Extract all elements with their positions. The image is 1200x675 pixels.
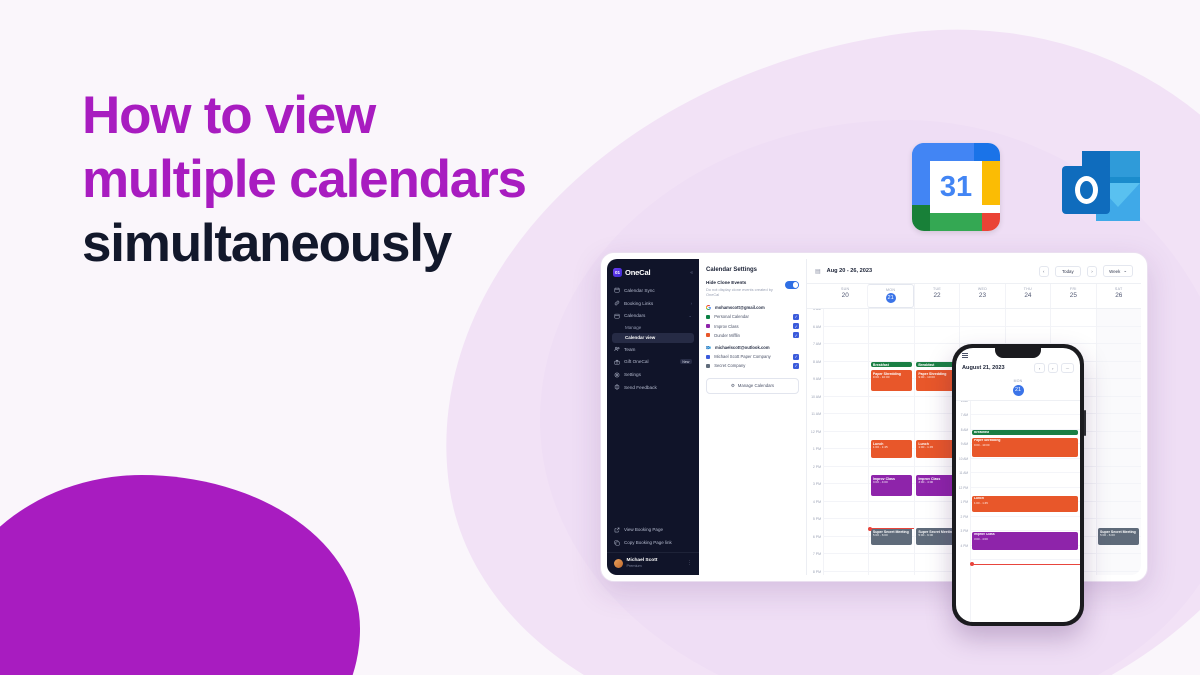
day-number: 23 <box>960 292 1004 299</box>
sidebar-label: Booking Links <box>624 301 653 306</box>
collapse-sidebar-icon[interactable]: « <box>690 270 693 276</box>
team-icon <box>614 346 620 352</box>
phone-hour-label: 3 PM <box>956 529 970 544</box>
external-link-icon <box>614 527 620 533</box>
sidebar-subitem-manage[interactable]: Manage <box>607 322 699 332</box>
user-menu-icon[interactable]: ⋮ <box>687 560 692 566</box>
calendar-event[interactable]: Paper Shredding9:00 - 10:00 <box>871 370 912 391</box>
phone-prev-button[interactable]: ‹ <box>1034 363 1044 373</box>
hour-label: 7 AM <box>807 342 823 360</box>
hour-slot[interactable] <box>1097 379 1141 397</box>
hour-slot[interactable] <box>1097 309 1141 327</box>
calendar-row[interactable]: Personal Calendar ✓ <box>706 314 799 320</box>
onecal-logo-mark: 01 <box>613 268 622 277</box>
gift-icon <box>614 359 620 365</box>
hour-label: 6 PM <box>807 535 823 553</box>
outlook-icon <box>1048 143 1140 231</box>
feedback-icon <box>614 384 620 390</box>
copy-icon <box>614 540 620 546</box>
hour-slot[interactable] <box>960 327 1004 345</box>
hour-slot[interactable] <box>869 502 913 520</box>
phone-calendar-grid: 6 AM7 AM8 AM9 AM10 AM11 AM12 PM1 PM2 PM3… <box>956 401 1080 622</box>
hide-clone-events-row: Hide Clone Events Do not display clone e… <box>706 280 799 297</box>
event-time: 9:00 - 10:00 <box>918 376 955 380</box>
phone-more-button[interactable]: ⋯ <box>1061 363 1074 373</box>
calendar-event[interactable]: Improv Class3:00 - 4:00 <box>871 475 912 496</box>
hour-slot[interactable] <box>1097 327 1141 345</box>
event-time: 3:00 - 4:00 <box>873 481 910 485</box>
calendar-row[interactable]: Improv Class ✓ <box>706 323 799 329</box>
hour-label: 5 PM <box>807 517 823 535</box>
sidebar-item-copy-booking-link[interactable]: Copy Booking Page link <box>607 536 699 549</box>
hour-slot[interactable] <box>1097 344 1141 362</box>
avatar <box>614 559 623 568</box>
hour-slot[interactable] <box>824 397 868 415</box>
hour-label: 7 PM <box>807 552 823 570</box>
hour-label: 3 PM <box>807 482 823 500</box>
hide-clone-events-toggle[interactable] <box>785 281 799 289</box>
account-group-outlook: michaelscott@outlook.com Michael Scott P… <box>706 345 799 369</box>
hour-slot[interactable] <box>1097 467 1141 485</box>
hour-slot[interactable] <box>869 344 913 362</box>
phone-hour-slot[interactable] <box>971 459 1080 474</box>
calendar-icon <box>614 313 620 319</box>
sidebar-item-send-feedback[interactable]: Send Feedback <box>607 381 699 394</box>
calendar-color-swatch <box>706 364 710 368</box>
hour-slot[interactable] <box>1097 502 1141 520</box>
day-column-mon[interactable]: BreakfastPaper Shredding9:00 - 10:00Lunc… <box>868 309 913 575</box>
user-plan: Premium <box>627 564 658 568</box>
hour-label: 8 AM <box>807 360 823 378</box>
day-column-sun[interactable] <box>823 309 868 575</box>
calendar-label: Dunder Mifflin <box>714 333 789 338</box>
hour-slot[interactable] <box>869 572 913 576</box>
google-calendar-icon: 31 <box>912 143 1000 231</box>
view-selector[interactable]: Week ⌄ <box>1103 265 1133 277</box>
hour-slot[interactable] <box>824 484 868 502</box>
event-time: 1:00 - 1:45 <box>918 446 955 450</box>
calendar-label: Improv Class <box>714 324 789 329</box>
calendar-view-icon[interactable]: ▤ <box>815 268 821 275</box>
phone-hour-label: 8 AM <box>956 428 970 443</box>
headline-line-2: multiple calendars <box>82 148 702 212</box>
day-header-mon[interactable]: MON21 <box>867 284 913 308</box>
phone-hour-label: 4 PM <box>956 544 970 559</box>
current-time-indicator <box>869 528 913 529</box>
hour-slot[interactable] <box>1097 362 1141 380</box>
hour-slot[interactable] <box>1097 484 1141 502</box>
hide-clone-events-title: Hide Clone Events <box>706 280 780 285</box>
sidebar-item-team[interactable]: Team <box>607 343 699 356</box>
sidebar-label: Settings <box>624 372 641 377</box>
hour-label: 6 AM <box>807 325 823 343</box>
day-of-week: THU <box>1006 287 1050 291</box>
sidebar: 01 OneCal « Calendar Sync Booking Links … <box>607 259 699 575</box>
google-icon <box>706 305 711 310</box>
sidebar-label: Calendar Sync <box>624 288 655 293</box>
day-headers: SUN20MON21TUE22WED23THU24FRI25SAT26 <box>807 284 1141 309</box>
day-number: 26 <box>1097 292 1141 299</box>
phone-hour-label: 2 PM <box>956 515 970 530</box>
account-header: michaelscott@outlook.com <box>706 345 799 350</box>
phone-hour-label: 1 PM <box>956 500 970 515</box>
hour-slot[interactable] <box>824 344 868 362</box>
day-of-week: SUN <box>823 287 867 291</box>
hour-slot[interactable] <box>824 572 868 576</box>
day-of-week: SAT <box>1097 287 1141 291</box>
view-selector-label: Week <box>1109 269 1120 274</box>
sidebar-user-profile[interactable]: Michael Scott Premium ⋮ <box>607 552 699 571</box>
day-header-thu[interactable]: THU24 <box>1005 284 1050 308</box>
hour-label: 2 PM <box>807 465 823 483</box>
phone-date-label: August 21, 2023 <box>962 365 1005 371</box>
new-badge: New <box>680 359 692 364</box>
sidebar-item-settings[interactable]: Settings <box>607 368 699 381</box>
day-column-sat[interactable]: Super Secret Meeting5:00 - 6:00 <box>1096 309 1141 575</box>
hour-slot[interactable] <box>824 449 868 467</box>
hour-slot[interactable] <box>1097 414 1141 432</box>
phone-calendar-event[interactable]: Improv Class3:00 - 4:00 <box>972 532 1078 550</box>
google-calendar-day-number: 31 <box>930 161 982 213</box>
sidebar-item-calendars[interactable]: Calendars ⌄ <box>607 310 699 323</box>
calendar-row[interactable]: Dunder Mifflin ✓ <box>706 332 799 338</box>
gear-icon <box>614 372 620 378</box>
calendar-checkbox[interactable]: ✓ <box>793 332 799 338</box>
day-number: 25 <box>1051 292 1095 299</box>
account-group-google: mohamscott@gmail.com Personal Calendar ✓… <box>706 305 799 338</box>
day-number: 24 <box>1006 292 1050 299</box>
event-time: 5:00 - 6:00 <box>1100 534 1137 538</box>
calendar-row[interactable]: Michael Scott Paper Company ✓ <box>706 354 799 360</box>
phone-calendar-event[interactable]: Breakfast <box>972 430 1078 435</box>
event-time: 5:00 - 6:00 <box>873 534 910 538</box>
day-number: 20 <box>823 292 867 299</box>
event-time: 3:00 - 4:00 <box>918 481 955 485</box>
phone-hour-slot[interactable] <box>971 517 1080 532</box>
calendar-event[interactable]: Breakfast <box>871 362 912 367</box>
hour-label: 10 AM <box>807 395 823 413</box>
calendar-event[interactable]: Super Secret Meeting5:00 - 6:00 <box>1098 528 1139 545</box>
phone-calendar-event[interactable]: Paper Shredding9:00 - 10:00 <box>972 438 1078 457</box>
today-button[interactable]: Today <box>1055 266 1081 277</box>
hour-label: 4 PM <box>807 500 823 518</box>
hour-slot[interactable] <box>824 467 868 485</box>
calendar-color-swatch <box>706 355 710 359</box>
calendar-checkbox[interactable]: ✓ <box>793 363 799 369</box>
chevron-right-icon: › <box>691 301 692 306</box>
sidebar-bottom-actions: View Booking Page Copy Booking Page link <box>607 523 699 549</box>
calendar-color-swatch <box>706 324 710 328</box>
hour-slot[interactable] <box>1051 309 1095 327</box>
hour-slot[interactable] <box>824 414 868 432</box>
sidebar-label: Send Feedback <box>624 385 657 390</box>
hour-label: 1 PM <box>807 447 823 465</box>
hour-slot[interactable] <box>824 309 868 327</box>
hour-slot[interactable] <box>869 554 913 572</box>
hour-slot[interactable] <box>1051 327 1095 345</box>
settings-title: Calendar Settings <box>706 267 799 273</box>
event-time: 5:00 - 6:00 <box>918 534 955 538</box>
hour-slot[interactable] <box>869 414 913 432</box>
chevron-down-icon: ⌄ <box>1123 268 1127 274</box>
phone-hour-slot[interactable] <box>971 473 1080 488</box>
hour-slot[interactable] <box>869 309 913 327</box>
phone-day-number: 21 <box>1013 385 1024 396</box>
phone-day-of-week: MON <box>956 379 1080 383</box>
phone-side-button <box>1084 410 1086 436</box>
calendar-color-swatch <box>706 333 710 337</box>
phone-calendar-event[interactable]: Lunch1:00 - 1:45 <box>972 496 1078 512</box>
hour-slot[interactable] <box>824 502 868 520</box>
link-icon <box>614 300 620 306</box>
hour-slot[interactable] <box>1097 397 1141 415</box>
calendar-label: Personal Calendar <box>714 314 789 319</box>
hour-slot[interactable] <box>1006 327 1050 345</box>
hour-slot[interactable] <box>1097 554 1141 572</box>
calendar-event[interactable]: Lunch1:00 - 1:45 <box>871 440 912 458</box>
hour-slot[interactable] <box>824 379 868 397</box>
hour-slot[interactable] <box>824 519 868 537</box>
phone-hour-label: 10 AM <box>956 457 970 472</box>
day-number: 22 <box>915 292 959 299</box>
phone-hour-slot[interactable] <box>971 401 1080 416</box>
hide-clone-events-description: Do not display clone events created by O… <box>706 287 780 298</box>
account-header: mohamscott@gmail.com <box>706 305 799 310</box>
hour-label: 11 AM <box>807 412 823 430</box>
hour-slot[interactable] <box>869 397 913 415</box>
hour-slot[interactable] <box>824 362 868 380</box>
hour-slot[interactable] <box>1097 449 1141 467</box>
phone-hour-label: 12 PM <box>956 486 970 501</box>
manage-calendars-button[interactable]: ⚙ Manage Calendars <box>706 378 799 394</box>
purple-blob <box>0 475 360 675</box>
calendar-toolbar: ▤ Aug 20 - 26, 2023 ‹ Today › Week ⌄ <box>807 259 1141 284</box>
event-time: 1:00 - 1:45 <box>873 446 910 450</box>
calendar-color-swatch <box>706 315 710 319</box>
phone-hour-label: 11 AM <box>956 471 970 486</box>
phone-calendar-header: August 21, 2023 ‹ › ⋯ <box>956 360 1080 377</box>
page-title: How to view multiple calendars simultane… <box>82 84 702 276</box>
account-email: mohamscott@gmail.com <box>715 305 765 310</box>
event-time: 9:00 - 10:00 <box>974 443 1076 447</box>
phone-hour-label: 9 AM <box>956 442 970 457</box>
day-of-week: TUE <box>915 287 959 291</box>
phone-hour-label: 7 AM <box>956 413 970 428</box>
gear-small-icon: ⚙ <box>731 383 735 389</box>
phone-current-time-indicator <box>971 564 1080 565</box>
sidebar-label: Team <box>624 347 635 352</box>
phone-next-button[interactable]: › <box>1048 363 1058 373</box>
app-name: OneCal <box>625 268 650 277</box>
day-of-week: WED <box>960 287 1004 291</box>
calendar-label: Michael Scott Paper Company <box>714 354 789 359</box>
day-header-sat[interactable]: SAT26 <box>1096 284 1141 308</box>
hour-slot[interactable] <box>824 327 868 345</box>
sidebar-label: Calendars <box>624 313 645 318</box>
hour-slot[interactable] <box>1006 309 1050 327</box>
phone-hour-slot[interactable] <box>971 415 1080 430</box>
event-title: Breakfast <box>873 363 910 367</box>
hour-slot[interactable] <box>960 309 1004 327</box>
event-time: 1:00 - 1:45 <box>974 501 1076 505</box>
calendar-checkbox[interactable]: ✓ <box>793 354 799 360</box>
event-title: Breakfast <box>918 363 955 367</box>
hour-slot[interactable] <box>1097 572 1141 576</box>
day-header-tue[interactable]: TUE22 <box>914 284 959 308</box>
date-range-label: Aug 20 - 26, 2023 <box>827 268 872 274</box>
event-time: 9:00 - 10:00 <box>873 376 910 380</box>
chevron-down-icon: ⌄ <box>688 313 692 318</box>
sidebar-item-booking-links[interactable]: Booking Links › <box>607 297 699 310</box>
app-logo[interactable]: 01 OneCal « <box>607 265 699 284</box>
hour-label: 8 PM <box>807 570 823 576</box>
calendar-event[interactable]: Super Secret Meeting5:00 - 6:00 <box>871 528 912 545</box>
mobile-app-mockup: August 21, 2023 ‹ › ⋯ MON 21 6 AM7 AM8 A… <box>952 344 1084 626</box>
calendar-label: Secret Company <box>714 363 789 368</box>
next-week-button[interactable]: › <box>1087 266 1097 277</box>
prev-week-button[interactable]: ‹ <box>1039 266 1049 277</box>
sync-icon <box>614 287 620 293</box>
calendar-checkbox[interactable]: ✓ <box>793 314 799 320</box>
day-of-week: MON <box>868 288 912 292</box>
day-of-week: FRI <box>1051 287 1095 291</box>
account-email: michaelscott@outlook.com <box>715 345 770 350</box>
manage-calendars-label: Manage Calendars <box>738 383 774 388</box>
hour-slot[interactable] <box>1097 432 1141 450</box>
day-header-fri[interactable]: FRI25 <box>1050 284 1095 308</box>
sidebar-label: Copy Booking Page link <box>624 540 672 545</box>
phone-hour-label: 6 AM <box>956 401 970 414</box>
calendar-settings-panel: Calendar Settings Hide Clone Events Do n… <box>699 259 807 575</box>
hour-slot[interactable] <box>869 327 913 345</box>
hour-label: 5 AM <box>807 309 823 325</box>
phone-hour-labels: 6 AM7 AM8 AM9 AM10 AM11 AM12 PM1 PM2 PM3… <box>956 401 970 622</box>
brand-icons: 31 <box>912 143 1140 231</box>
day-header-sun[interactable]: SUN20 <box>823 284 867 308</box>
sidebar-label: Gift OneCal <box>624 359 649 364</box>
outlook-small-icon <box>706 345 711 350</box>
headline-line-1: How to view <box>82 84 702 148</box>
hour-label: 12 PM <box>807 430 823 448</box>
event-title: Breakfast <box>974 431 1076 435</box>
hour-slot[interactable] <box>824 554 868 572</box>
phone-day-column[interactable]: BreakfastPaper Shredding9:00 - 10:00Lunc… <box>970 401 1080 622</box>
calendar-row[interactable]: Secret Company ✓ <box>706 363 799 369</box>
calendar-checkbox[interactable]: ✓ <box>793 323 799 329</box>
sidebar-subitem-calendar-view[interactable]: Calendar view <box>612 333 694 343</box>
phone-day-bar: MON 21 <box>956 377 1080 401</box>
hour-slot[interactable] <box>824 537 868 555</box>
hour-slot[interactable] <box>915 309 959 327</box>
hamburger-icon[interactable] <box>962 353 968 358</box>
sidebar-item-view-booking-page[interactable]: View Booking Page <box>607 523 699 536</box>
hour-label: 9 AM <box>807 377 823 395</box>
hour-slot[interactable] <box>824 432 868 450</box>
sidebar-label: View Booking Page <box>624 527 663 532</box>
hour-slot[interactable] <box>915 327 959 345</box>
hour-labels: 5 AM6 AM7 AM8 AM9 AM10 AM11 AM12 PM1 PM2… <box>807 309 823 575</box>
sidebar-item-gift-onecal[interactable]: Gift OneCal New <box>607 356 699 369</box>
day-header-wed[interactable]: WED23 <box>959 284 1004 308</box>
day-number: 21 <box>886 293 896 303</box>
sidebar-item-calendar-sync[interactable]: Calendar Sync <box>607 284 699 297</box>
event-time: 3:00 - 4:00 <box>974 537 1076 541</box>
phone-notch <box>995 348 1041 358</box>
